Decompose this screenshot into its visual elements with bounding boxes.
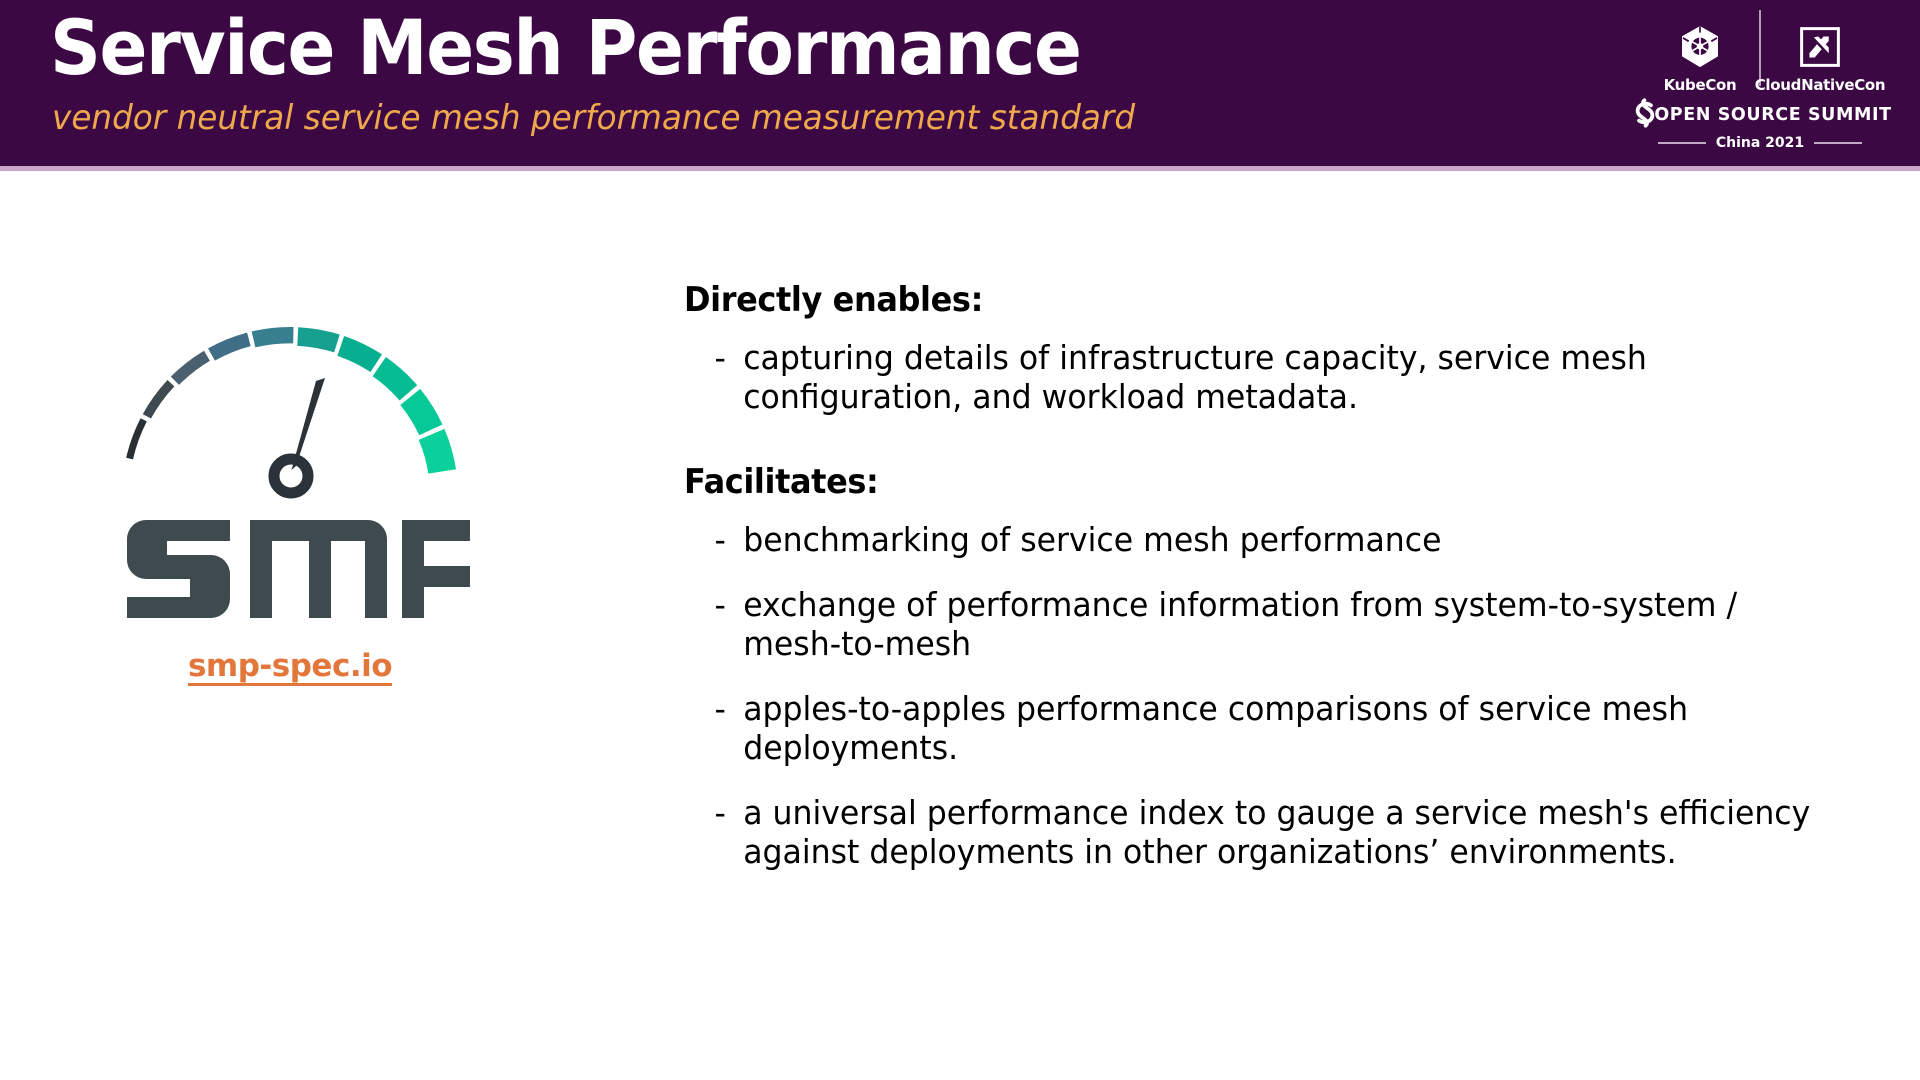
bullet-text: exchange of performance information from… [743, 585, 1830, 663]
bullet-text: apples-to-apples performance comparisons… [743, 689, 1830, 767]
bullet-item: -apples-to-apples performance comparison… [684, 689, 1830, 767]
header-bar: Service Mesh Performance vendor neutral … [0, 0, 1920, 166]
gauge-segment [126, 418, 147, 459]
page-subtitle: vendor neutral service mesh performance … [52, 98, 1135, 138]
bullet-text: capturing details of infrastructure capa… [743, 338, 1830, 416]
logo-divider [1759, 10, 1761, 86]
cloudnativecon-brand: CloudNativeCon [1765, 21, 1875, 94]
bullet-marker: - [684, 338, 743, 377]
gauge-segment [337, 336, 382, 372]
gauge-segment [208, 333, 251, 361]
gauge-segment [419, 429, 456, 474]
content-column: Directly enables:-capturing details of i… [684, 278, 1884, 897]
year-rule-right [1814, 142, 1862, 144]
bullet-marker: - [684, 689, 743, 728]
section-heading: Directly enables: [684, 278, 1812, 322]
open-source-summit-row: OPEN SOURCE SUMMIT [1636, 98, 1884, 132]
smp-logo-block: smp-spec.io [110, 280, 470, 684]
slide-root: Service Mesh Performance vendor neutral … [0, 0, 1920, 1080]
bullet-list: -benchmarking of service mesh performanc… [684, 520, 1884, 871]
cloudnativecon-label: CloudNativeCon [1755, 76, 1886, 94]
gauge-segment [297, 327, 339, 352]
bullet-item: -capturing details of infrastructure cap… [684, 338, 1830, 416]
conference-year-label: China 2021 [1716, 135, 1804, 151]
conference-logo: KubeCon CloudNativeCon [1636, 6, 1884, 158]
smp-wordmark [110, 514, 470, 624]
section-heading: Facilitates: [684, 460, 1812, 504]
year-rule-left [1658, 142, 1706, 144]
kubecon-label: KubeCon [1664, 76, 1737, 94]
cloudnativecon-square-icon [1799, 21, 1841, 73]
bullet-item: -a universal performance index to gauge … [684, 793, 1830, 871]
bullet-marker: - [684, 585, 743, 624]
bullet-marker: - [684, 520, 743, 559]
kubecon-brand: KubeCon [1645, 21, 1755, 94]
bullet-marker: - [684, 793, 743, 832]
gauge-segment [252, 327, 294, 347]
conference-year-row: China 2021 [1636, 135, 1884, 151]
bullet-text: benchmarking of service mesh performance [743, 520, 1830, 559]
smp-spec-link[interactable]: smp-spec.io [110, 648, 470, 684]
conference-brand-row: KubeCon CloudNativeCon [1636, 6, 1884, 94]
gauge-segment [143, 380, 175, 419]
gauge-segment [171, 351, 210, 385]
bullet-text: a universal performance index to gauge a… [743, 793, 1830, 871]
open-source-summit-label: OPEN SOURCE SUMMIT [1654, 105, 1891, 125]
gauge-segment [400, 389, 442, 435]
header-underline [0, 166, 1920, 171]
bullet-item: -benchmarking of service mesh performanc… [684, 520, 1830, 559]
bullet-item: -exchange of performance information fro… [684, 585, 1830, 663]
page-title: Service Mesh Performance [50, 2, 1080, 94]
kubernetes-helm-icon [1677, 21, 1723, 73]
gauge-segment [373, 357, 418, 400]
gauge-needle [274, 378, 325, 493]
speedometer-gauge-icon [110, 280, 470, 510]
bullet-list: -capturing details of infrastructure cap… [684, 338, 1884, 416]
